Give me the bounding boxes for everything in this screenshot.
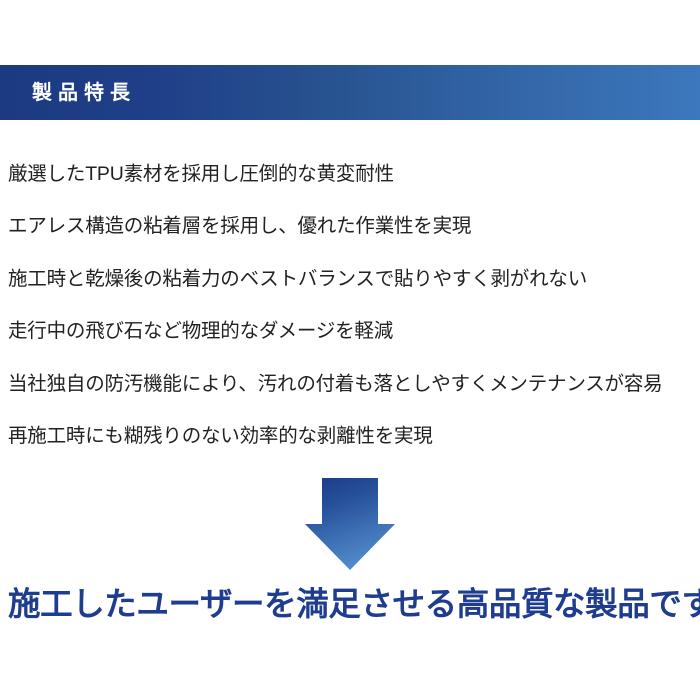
arrow-down-icon	[303, 476, 397, 572]
feature-list: 厳選したTPU素材を採用し圧倒的な黄変耐性 エアレス構造の粘着層を採用し、優れた…	[8, 148, 698, 463]
feature-list-item: 施工時と乾燥後の粘着力のベストバランスで貼りやすく剥がれない	[8, 253, 698, 306]
feature-list-item: 当社独自の防汚機能により、汚れの付着も落としやすくメンテナンスが容易	[8, 358, 698, 411]
feature-text: 走行中の飛び石など物理的なダメージを軽減	[8, 322, 393, 342]
feature-list-item: エアレス構造の粘着層を採用し、優れた作業性を実現	[8, 201, 698, 254]
product-features-panel: 製品特長 厳選したTPU素材を採用し圧倒的な黄変耐性 エアレス構造の粘着層を採用…	[0, 0, 700, 700]
section-header-title: 製品特長	[32, 83, 136, 103]
feature-list-item: 走行中の飛び石など物理的なダメージを軽減	[8, 306, 698, 359]
section-header-bar: 製品特長	[0, 65, 700, 120]
feature-text: 当社独自の防汚機能により、汚れの付着も落としやすくメンテナンスが容易	[8, 375, 662, 395]
feature-text: 再施工時にも糊残りのない効率的な剥離性を実現	[8, 427, 433, 447]
feature-text: 施工時と乾燥後の粘着力のベストバランスで貼りやすく剥がれない	[8, 270, 587, 290]
feature-text: 厳選したTPU素材を採用し圧倒的な黄変耐性	[8, 165, 394, 185]
feature-text: エアレス構造の粘着層を採用し、優れた作業性を実現	[8, 217, 471, 237]
feature-list-item: 厳選したTPU素材を採用し圧倒的な黄変耐性	[8, 148, 698, 201]
conclusion-headline: 施工したユーザーを満足させる高品質な製品です	[8, 580, 698, 628]
feature-list-item: 再施工時にも糊残りのない効率的な剥離性を実現	[8, 411, 698, 464]
conclusion-text: 施工したユーザーを満足させる高品質な製品です	[8, 588, 700, 621]
